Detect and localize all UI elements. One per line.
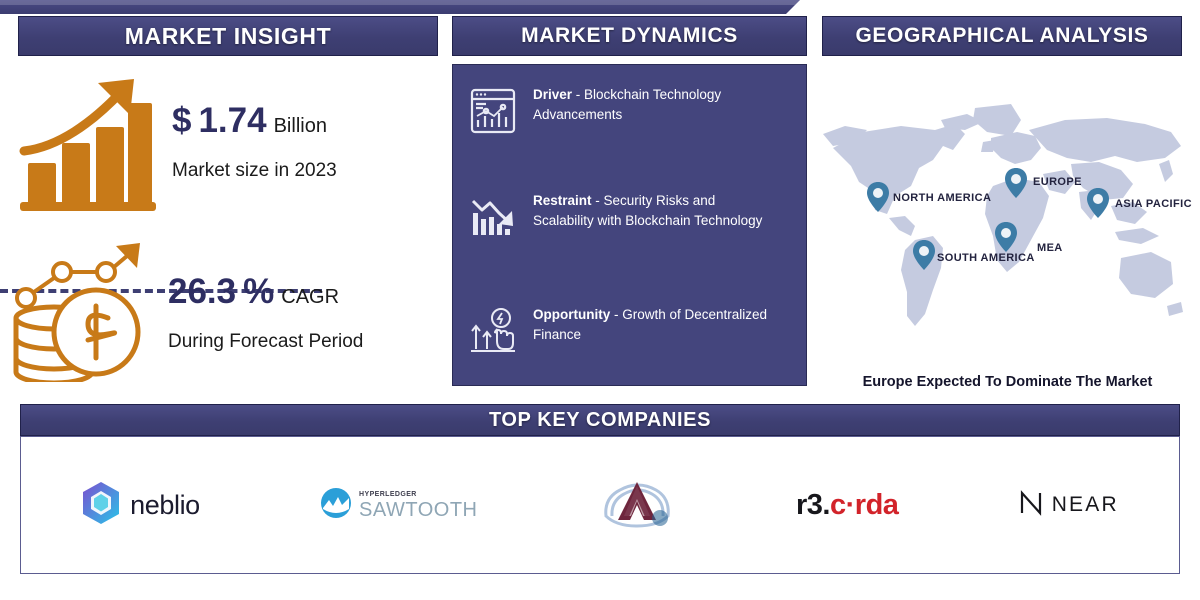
dynamics-driver-label: Driver [533, 87, 572, 102]
market-dynamics-body: Driver - Blockchain Technology Advanceme… [452, 64, 807, 386]
market-dynamics-header: MARKET DYNAMICS [452, 16, 807, 56]
map-pin-south-america [913, 240, 935, 270]
geographical-analysis-body: NORTH AMERICA EUROPE ASIA PACIFIC MEA SO… [815, 62, 1200, 397]
company-logo-neblio: neblio [81, 470, 200, 540]
avalanche-a-icon [598, 472, 676, 539]
dynamics-restraint-sep: - [592, 193, 604, 208]
market-size-text: $ 1.74 Billion Market size in 2023 [172, 103, 337, 182]
map-label-asia-pacific: ASIA PACIFIC [1115, 198, 1192, 210]
dynamics-restraint-label: Restraint [533, 193, 592, 208]
dynamics-driver-text: Driver - Blockchain Technology Advanceme… [533, 85, 773, 125]
geography-caption: Europe Expected To Dominate The Market [815, 374, 1200, 390]
near-wordmark: NEAR [1052, 493, 1119, 517]
infographic-root: MARKET INSIGHT $ [0, 0, 1200, 600]
cagr-number: 26.3 [168, 274, 236, 309]
dynamics-item-driver: Driver - Blockchain Technology Advanceme… [467, 85, 773, 137]
cagr-text: 26.3 % CAGR During Forecast Period [168, 274, 363, 353]
cagr-label: CAGR [281, 287, 339, 307]
corda-r3-part: r3. [796, 489, 830, 521]
corda-dot: · [846, 489, 855, 521]
dynamics-item-opportunity: Opportunity - Growth of Decentralized Fi… [467, 305, 773, 357]
near-mark-icon [1019, 490, 1043, 521]
map-label-south-america: SOUTH AMERICA [937, 252, 1035, 264]
neblio-hexagon-icon [81, 481, 121, 530]
bar-chart-growth-icon [10, 65, 160, 220]
dynamics-item-restraint: Restraint - Security Risks and Scalabili… [467, 191, 773, 243]
map-label-europe: EUROPE [1033, 176, 1082, 188]
market-insight-header: MARKET INSIGHT [18, 16, 438, 56]
company-logo-avalanche [598, 470, 676, 540]
company-logo-near: NEAR [1019, 470, 1119, 540]
hyperledger-label: HYPERLEDGER [359, 491, 477, 498]
map-pin-europe [1005, 168, 1027, 198]
hand-lightning-arrows-icon [467, 305, 519, 357]
geographical-analysis-header: GEOGRAPHICAL ANALYSIS [822, 16, 1182, 56]
declining-bar-chart-icon [467, 191, 519, 243]
map-label-north-america: NORTH AMERICA [893, 192, 991, 204]
dynamics-driver-sep: - [572, 87, 584, 102]
top-key-companies-body: neblio HYPERLEDGER SAWTOOTH [20, 436, 1180, 574]
market-size-number: 1.74 [198, 103, 266, 138]
top-banner-strip [0, 0, 800, 14]
market-size-unit: Billion [274, 116, 327, 136]
currency-symbol: $ [172, 103, 191, 138]
market-size-caption: Market size in 2023 [172, 160, 337, 182]
dynamics-opportunity-text: Opportunity - Growth of Decentralized Fi… [533, 305, 773, 345]
dynamics-restraint-text: Restraint - Security Risks and Scalabili… [533, 191, 773, 231]
map-label-mea: MEA [1037, 242, 1063, 254]
top-key-companies-header: TOP KEY COMPANIES [20, 404, 1180, 436]
company-logo-r3-corda: r3.c·rda [796, 470, 898, 540]
sawtooth-wave-icon [320, 487, 352, 524]
world-map: NORTH AMERICA EUROPE ASIA PACIFIC MEA SO… [815, 90, 1200, 360]
map-pin-asia-pacific [1087, 188, 1109, 218]
market-size-value: $ 1.74 Billion [172, 103, 337, 138]
dynamics-opportunity-sep: - [610, 307, 622, 322]
cagr-row: 26.3 % CAGR During Forecast Period [8, 240, 363, 387]
sawtooth-label: SAWTOOTH [359, 500, 477, 520]
dynamics-opportunity-label: Opportunity [533, 307, 610, 322]
company-logo-hyperledger-sawtooth: HYPERLEDGER SAWTOOTH [320, 470, 477, 540]
top-banner-sheen [0, 0, 800, 5]
corda-c-part: c [830, 489, 846, 521]
dashboard-chart-icon [467, 85, 519, 137]
cagr-percent: % [243, 274, 274, 309]
neblio-wordmark: neblio [130, 490, 200, 521]
corda-rda-part: rda [855, 489, 899, 521]
map-pin-north-america [867, 182, 889, 212]
market-insight-body: $ 1.74 Billion Market size in 2023 [0, 60, 440, 400]
cagr-caption: During Forecast Period [168, 331, 363, 353]
coin-stack-growth-icon [8, 240, 156, 387]
market-size-row: $ 1.74 Billion Market size in 2023 [10, 65, 337, 220]
cagr-value: 26.3 % CAGR [168, 274, 363, 309]
map-pin-mea [995, 222, 1017, 252]
